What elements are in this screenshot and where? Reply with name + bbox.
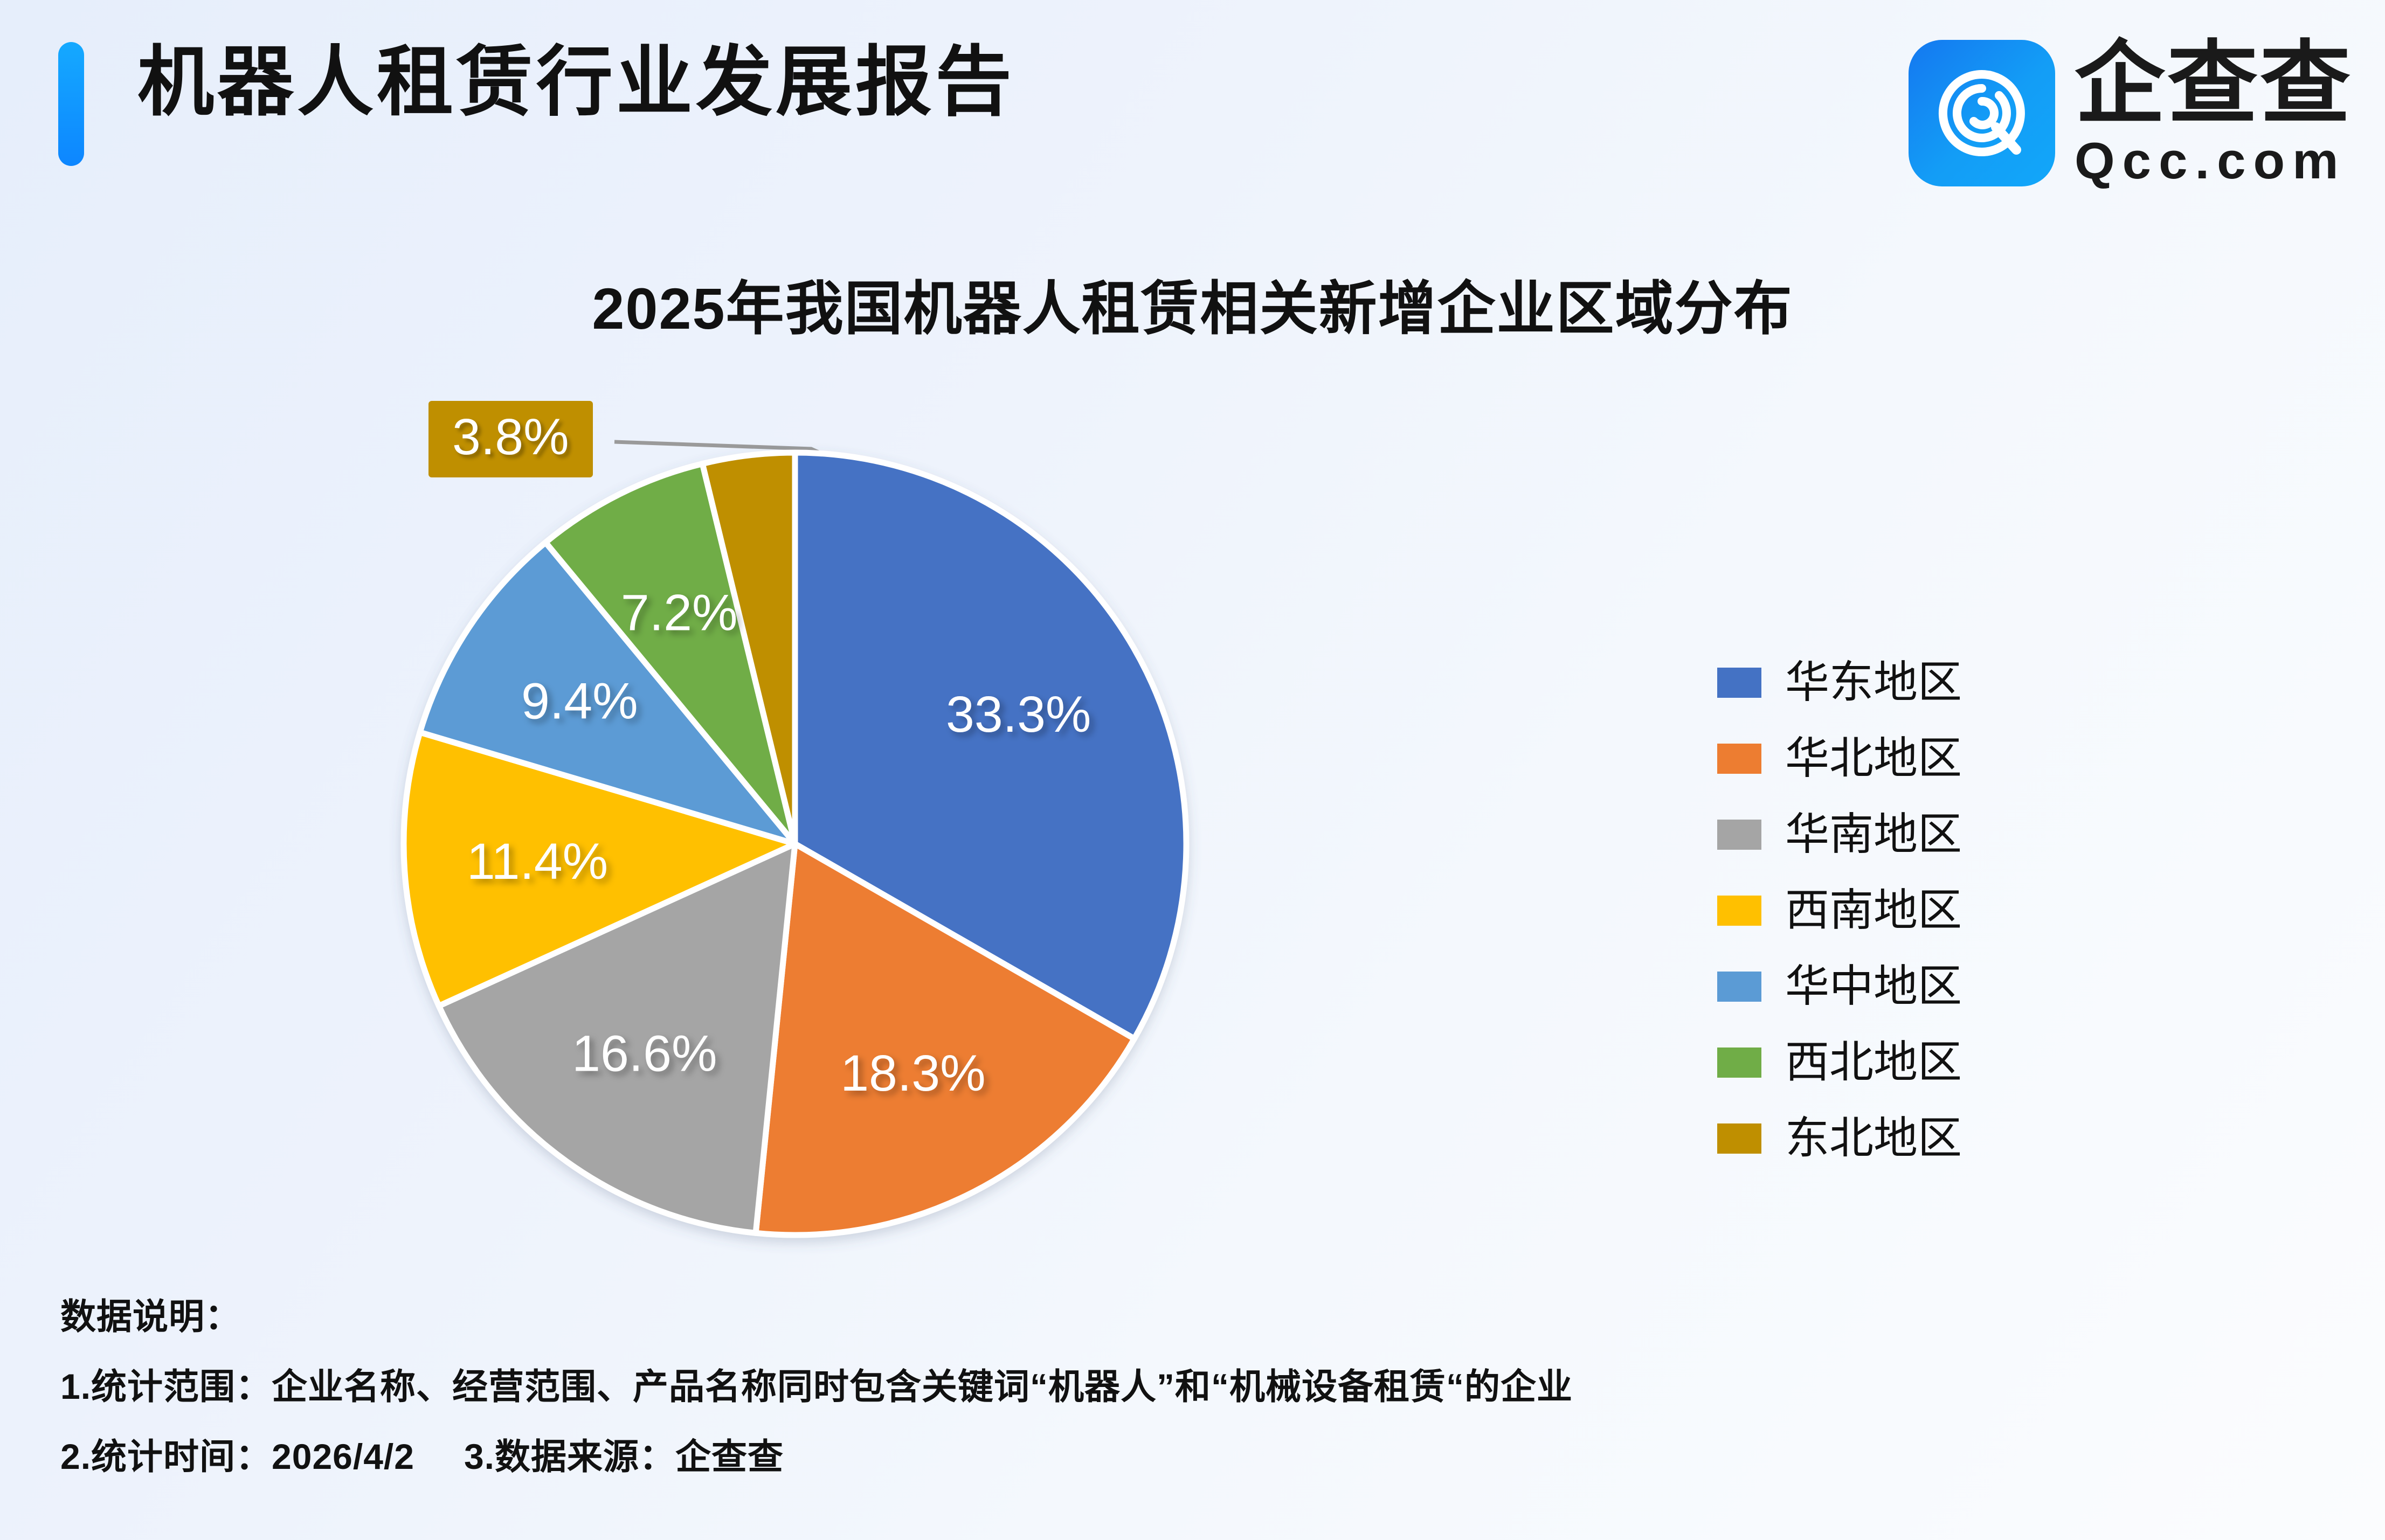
legend-swatch-icon-6 (1717, 1048, 1761, 1078)
legend-label-2: 华北地区 (1785, 737, 1962, 781)
legend-swatch-icon-4 (1717, 896, 1761, 926)
brand-name-cn: 企查查 (2075, 38, 2353, 129)
title-accent-bar (58, 42, 84, 166)
legend-item-5[interactable]: 华中地区 (1717, 948, 2094, 1024)
pie-slice-label-4: 11.4% (467, 833, 608, 890)
page-title: 机器人租赁行业发展报告 (137, 44, 1015, 121)
legend-item-1[interactable]: 华东地区 (1717, 644, 2094, 720)
legend-label-6: 西北地区 (1785, 1040, 1962, 1085)
legend-item-6[interactable]: 西北地区 (1717, 1024, 2094, 1100)
callout-value: 3.8% (452, 408, 569, 466)
data-notes-time: 2.统计时间：2026/4/2 (60, 1437, 414, 1476)
legend-item-3[interactable]: 华南地区 (1717, 796, 2094, 872)
page-header: 机器人租赁行业发展报告 企查查 Qcc.com (0, 0, 2385, 226)
callout-label-northeast: 3.8% (428, 401, 593, 477)
pie-slice-label-3: 16.6% (572, 1025, 717, 1082)
data-notes-line-1: 1.统计范围：企业名称、经营范围、产品名称同时包含关键词“机器人”和“机械设备租… (60, 1358, 2109, 1410)
legend-label-5: 华中地区 (1785, 965, 1962, 1009)
data-notes-source: 3.数据来源：企查查 (464, 1437, 784, 1476)
pie-slice-label-2: 18.3% (840, 1045, 985, 1102)
chart-title: 2025年我国机器人租赁相关新增企业区域分布 (0, 262, 2385, 346)
legend-swatch-icon-5 (1717, 972, 1761, 1002)
legend-label-3: 华南地区 (1785, 813, 1962, 857)
pie-slice-label-5: 9.4% (521, 673, 638, 730)
pie-slice-label-1: 33.3% (946, 686, 1091, 743)
legend-label-7: 东北地区 (1785, 1116, 1962, 1161)
legend-item-7[interactable]: 东北地区 (1717, 1100, 2094, 1176)
legend-label-1: 华东地区 (1785, 661, 1962, 705)
qcc-spiral-q-logo-icon (1909, 40, 2055, 186)
data-notes-heading: 数据说明： (60, 1288, 2109, 1340)
legend-label-4: 西南地区 (1785, 889, 1962, 933)
chart-legend: 华东地区华北地区华南地区西南地区华中地区西北地区东北地区 (1717, 644, 2094, 1176)
data-notes-line-2: 2.统计时间：2026/4/23.数据来源：企查查 (60, 1428, 2109, 1480)
brand-logo[interactable]: 企查查 Qcc.com (1909, 32, 2353, 194)
pie-slice-label-6: 7.2% (621, 585, 738, 642)
legend-swatch-icon-1 (1717, 668, 1761, 698)
legend-swatch-icon-7 (1717, 1123, 1761, 1154)
data-notes: 数据说明： 1.统计范围：企业名称、经营范围、产品名称同时包含关键词“机器人”和… (60, 1288, 2109, 1480)
pie-chart: 33.3%18.3%16.6%11.4%9.4%7.2% (402, 450, 1188, 1237)
legend-swatch-icon-2 (1717, 744, 1761, 774)
legend-item-2[interactable]: 华北地区 (1717, 720, 2094, 796)
brand-domain: Qcc.com (2075, 134, 2353, 189)
legend-item-4[interactable]: 西南地区 (1717, 872, 2094, 948)
legend-swatch-icon-3 (1717, 820, 1761, 850)
brand-logo-text: 企查查 Qcc.com (2075, 40, 2353, 186)
